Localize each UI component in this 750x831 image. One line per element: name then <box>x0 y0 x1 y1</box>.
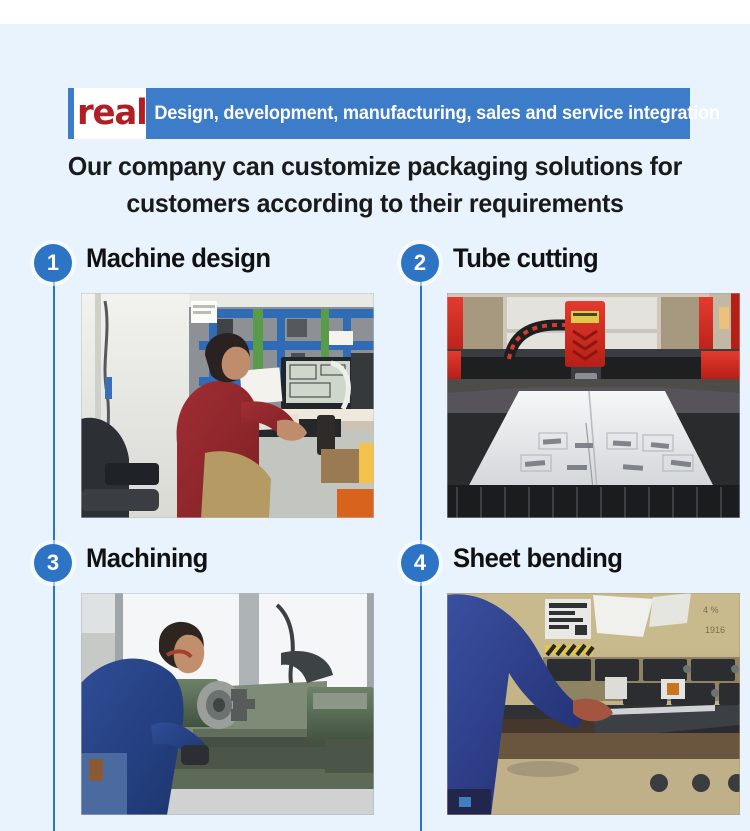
company-logo: real <box>68 88 146 139</box>
svg-text:1916: 1916 <box>705 625 725 635</box>
step-1-number-badge: 1 <box>34 244 72 282</box>
headline-line-1: Our company can customize packaging solu… <box>15 148 735 185</box>
step-3-number-badge: 3 <box>34 544 72 582</box>
step-1-title: Machine design <box>86 243 270 274</box>
connector-rail-right-upper <box>420 278 422 562</box>
machine-design-photo-illustration <box>81 293 374 518</box>
page-headline: Our company can customize packaging solu… <box>0 148 750 222</box>
tube-cutting-photo-illustration <box>447 293 740 518</box>
step-2-number-badge: 2 <box>401 244 439 282</box>
banner-tagline: Design, development, manufacturing, sale… <box>146 102 720 125</box>
top-white-strip <box>0 0 750 24</box>
connector-rail-right-lower <box>420 578 422 831</box>
machining-photo-illustration <box>81 593 374 815</box>
step-4-number-badge: 4 <box>401 544 439 582</box>
step-3-photo <box>81 593 374 815</box>
step-3-title: Machining <box>86 543 208 574</box>
svg-text:4 %: 4 % <box>703 605 719 615</box>
header-banner: real Design, development, manufacturing,… <box>68 88 690 139</box>
step-2-title: Tube cutting <box>453 243 598 274</box>
step-4-photo: 4 % 1916 <box>447 593 740 815</box>
step-2-photo <box>447 293 740 518</box>
connector-rail-left-upper <box>53 278 55 562</box>
sheet-bending-photo-illustration: 4 % 1916 <box>447 593 740 815</box>
step-4-title: Sheet bending <box>453 543 622 574</box>
page-background: real Design, development, manufacturing,… <box>0 0 750 831</box>
headline-line-2: customers according to their requirement… <box>15 185 735 222</box>
connector-rail-left-lower <box>53 578 55 831</box>
step-1-photo <box>81 293 374 518</box>
logo-text: real <box>69 96 146 131</box>
